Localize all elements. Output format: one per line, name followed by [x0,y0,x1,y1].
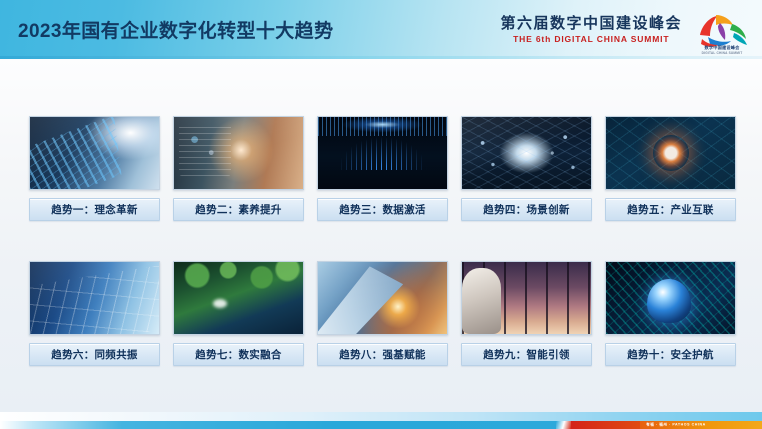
summit-branding: 第六届数字中国建设峰会 THE 6th DIGITAL CHINA SUMMIT [500,14,682,44]
summit-title-en: THE 6th DIGITAL CHINA SUMMIT [500,34,682,44]
summit-logo-caption-en: DIGITAL CHINA SUMMIT [690,51,754,55]
trend-card-label: 趋势三：数据激活 [317,198,448,221]
trend-card[interactable]: 趋势八：强基赋能 [317,261,448,406]
footer-color-bar: 有福 · 福州 · PATHOS CHINA [0,421,762,429]
footer-segment-cyan [0,421,556,429]
thumbnail-building-sunrise [317,261,448,335]
trend-card-label: 趋势五：产业互联 [605,198,736,221]
trend-card-label: 趋势六：同频共振 [29,343,160,366]
trend-card-label: 趋势一：理念革新 [29,198,160,221]
footer-segment-orange: 有福 · 福州 · PATHOS CHINA [640,421,762,429]
footer-segment-wedge [556,421,571,429]
trend-card-label: 趋势十：安全护航 [605,343,736,366]
trend-card-label: 趋势九：智能引领 [461,343,592,366]
trend-card-label: 趋势八：强基赋能 [317,343,448,366]
trend-card[interactable]: 趋势五：产业互联 [605,116,736,261]
thumbnail-forest-river-aerial [173,261,304,335]
trend-card-label: 趋势七：数实融合 [173,343,304,366]
page-header: 2023年国有企业数字化转型十大趋势 第六届数字中国建设峰会 THE 6th D… [0,0,762,59]
trend-card[interactable]: 趋势六：同频共振 [29,261,160,406]
footer-sheen [0,412,762,421]
page-title: 2023年国有企业数字化转型十大趋势 [18,16,333,43]
thumbnail-blue-data-waveform [317,116,448,190]
trend-card[interactable]: 趋势四：场景创新 [461,116,592,261]
summit-title-cn: 第六届数字中国建设峰会 [500,14,682,33]
thumbnail-network-light-burst [461,116,592,190]
trend-card[interactable]: 趋势一：理念革新 [29,116,160,261]
trend-card-grid: 趋势一：理念革新趋势二：素养提升趋势三：数据激活趋势四：场景创新趋势五：产业互联… [29,116,735,406]
footer-strip-text: 有福 · 福州 · PATHOS CHINA [646,423,706,428]
footer-segment-red [571,421,640,429]
thumbnail-solar-panels [29,261,160,335]
trend-card-label: 趋势二：素养提升 [173,198,304,221]
trend-card[interactable]: 趋势七：数实融合 [173,261,304,406]
thumbnail-keyboard-data-stairs [29,116,160,190]
trend-card[interactable]: 趋势十：安全护航 [605,261,736,406]
page-footer: 有福 · 福州 · PATHOS CHINA [0,412,762,429]
thumbnail-cyber-security-shield [605,261,736,335]
thumbnail-control-panel-hands [173,116,304,190]
trend-card[interactable]: 趋势二：素养提升 [173,116,304,261]
thumbnail-iot-cloud-ring [605,116,736,190]
summit-logo-caption: 数字中国建设峰会 DIGITAL CHINA SUMMIT [690,45,754,55]
summit-logo-caption-cn: 数字中国建设峰会 [704,45,739,50]
trend-card[interactable]: 趋势九：智能引领 [461,261,592,406]
trend-card[interactable]: 趋势三：数据激活 [317,116,448,261]
summit-logo-icon: 数字中国建设峰会 DIGITAL CHINA SUMMIT [690,9,754,55]
thumbnail-robot-city-window [461,261,592,335]
trend-card-label: 趋势四：场景创新 [461,198,592,221]
